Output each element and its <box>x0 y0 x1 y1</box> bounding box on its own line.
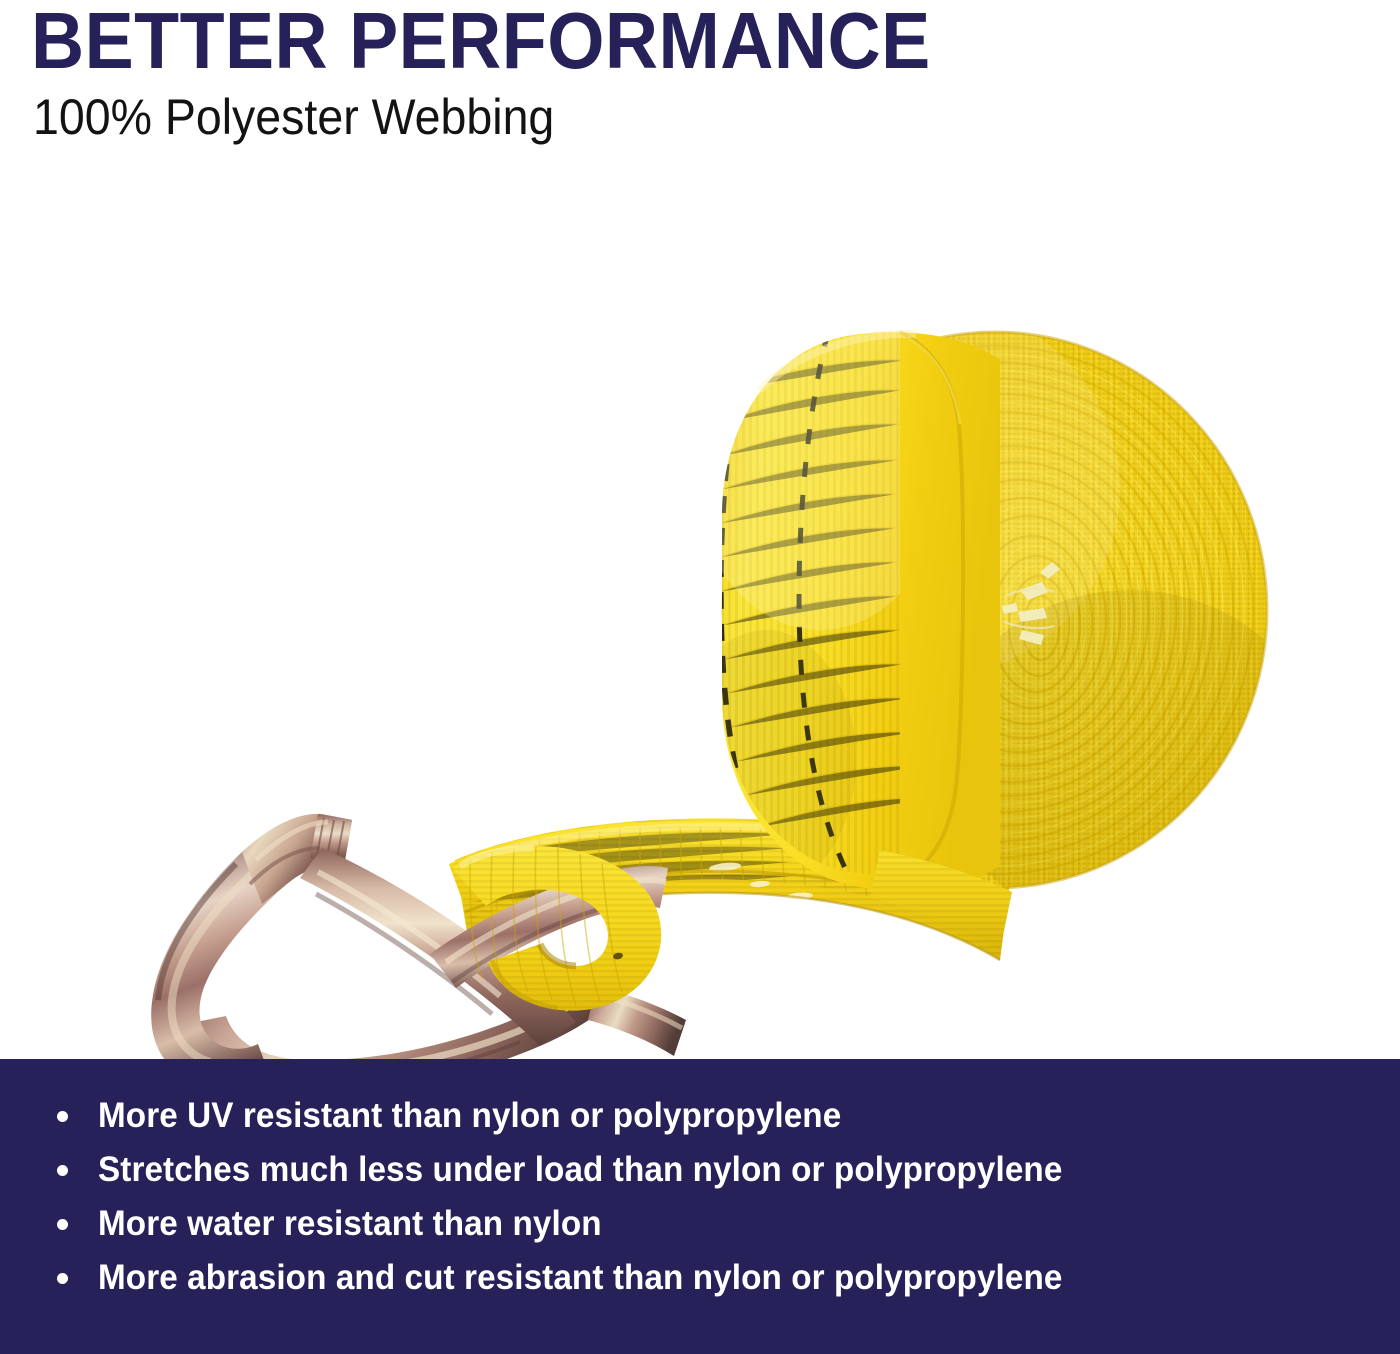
benefit-text: More abrasion and cut resistant than nyl… <box>98 1258 1062 1298</box>
bullet-dot-icon <box>57 1165 68 1176</box>
product-infographic: BETTER PERFORMANCE 100% Polyester Webbin… <box>0 0 1400 1354</box>
list-item: Stretches much less under load than nylo… <box>0 1143 1400 1197</box>
page-subtitle: 100% Polyester Webbing <box>33 86 554 148</box>
bullet-dot-icon <box>57 1111 68 1122</box>
list-item: More abrasion and cut resistant than nyl… <box>0 1251 1400 1305</box>
benefits-list: More UV resistant than nylon or polyprop… <box>0 1089 1400 1305</box>
product-image <box>0 160 1400 1060</box>
bullet-dot-icon <box>57 1273 68 1284</box>
page-title: BETTER PERFORMANCE <box>31 0 931 88</box>
header: BETTER PERFORMANCE 100% Polyester Webbin… <box>0 0 1400 165</box>
benefit-text: More water resistant than nylon <box>98 1204 602 1244</box>
benefits-panel: More UV resistant than nylon or polyprop… <box>0 1059 1400 1354</box>
list-item: More UV resistant than nylon or polyprop… <box>0 1089 1400 1143</box>
bullet-dot-icon <box>57 1219 68 1230</box>
list-item: More water resistant than nylon <box>0 1197 1400 1251</box>
benefit-text: More UV resistant than nylon or polyprop… <box>98 1096 841 1136</box>
benefit-text: Stretches much less under load than nylo… <box>98 1150 1062 1190</box>
